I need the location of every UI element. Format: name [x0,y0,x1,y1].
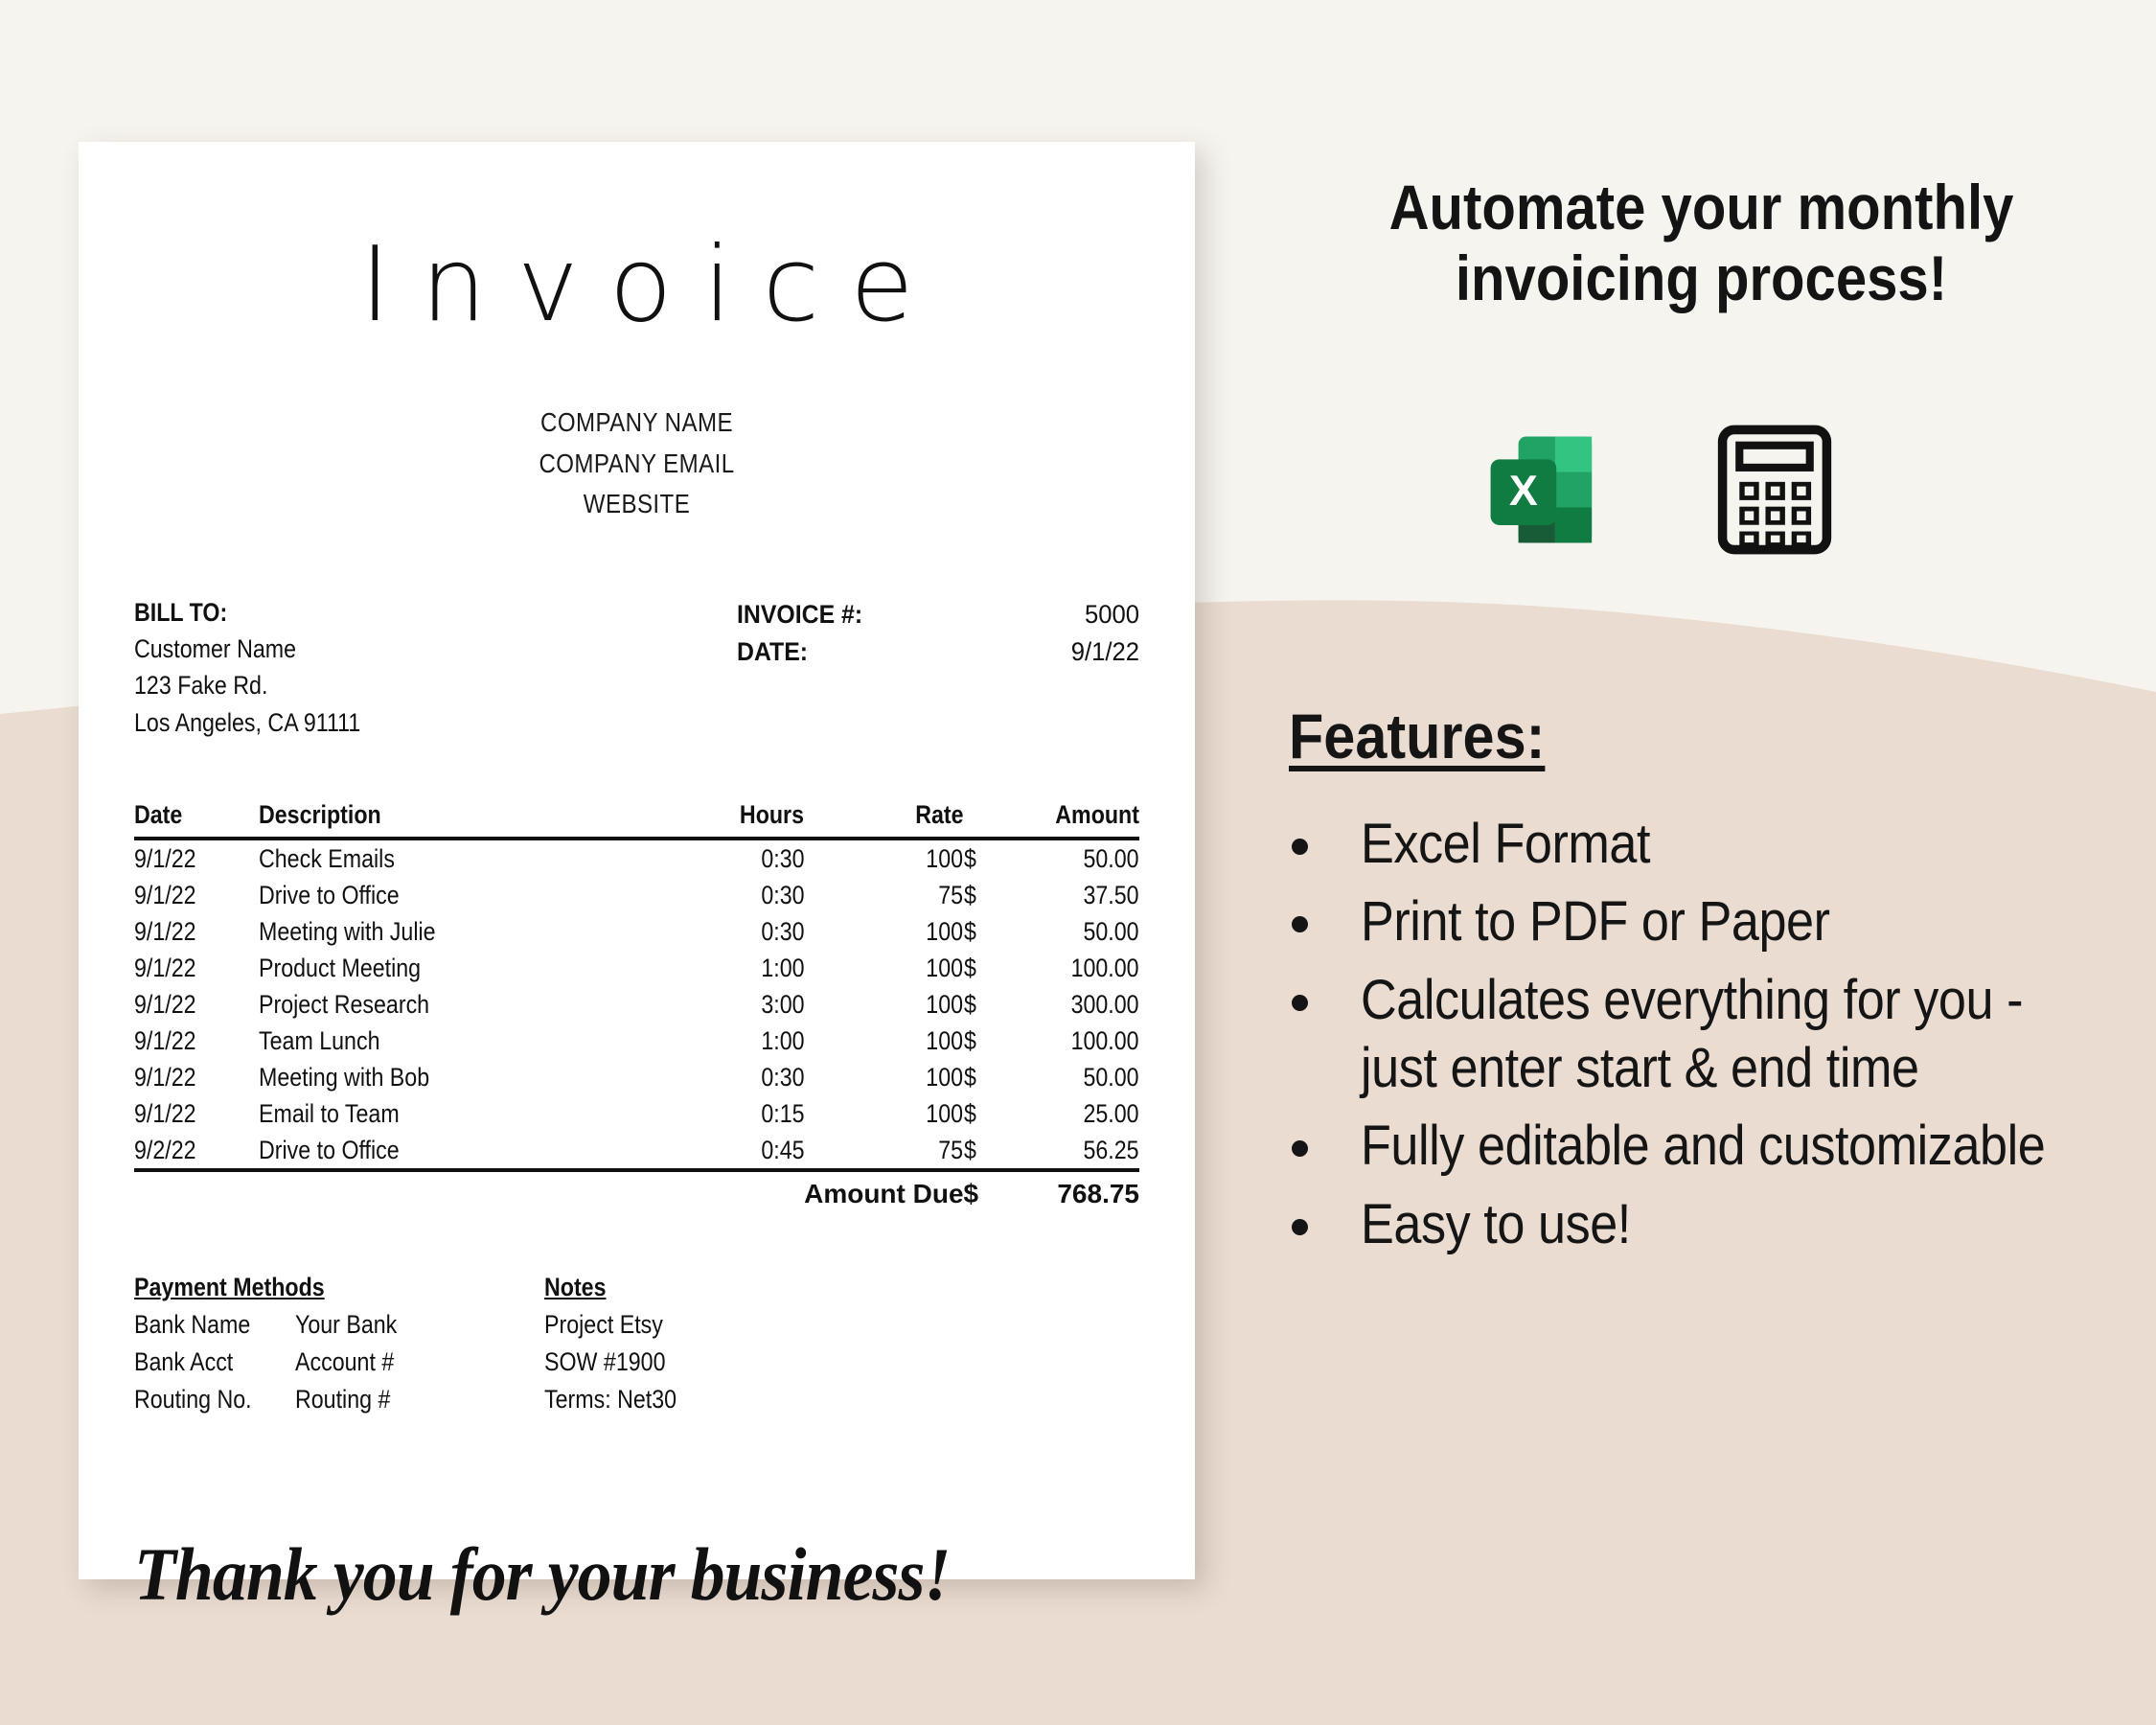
table-row: 9/1/22Team Lunch1:00100$100.00 [134,1023,1139,1059]
amount-due-row: Amount Due $ 768.75 [134,1172,1139,1213]
cell-hours: 0:30 [663,839,804,877]
svg-text:X: X [1509,466,1538,515]
bill-to-block: BILL TO: Customer Name 123 Fake Rd. Los … [134,594,671,741]
payment-row: Bank Acct Account # [134,1344,544,1381]
payment-notes-row: Payment Methods Bank Name Your Bank Bank… [134,1269,1139,1419]
feature-label: Fully editable and customizable [1361,1112,2045,1180]
features-heading: Features: [1289,700,1545,772]
cell-description: Meeting with Julie [259,913,663,950]
bullet-dot-icon [1292,916,1308,932]
column-header-amount: Amount [1006,800,1139,839]
feature-item: Easy to use! [1274,1190,2148,1258]
cell-currency: $ [964,950,1007,986]
column-header-currency [964,800,1007,839]
promo-panel: Automate your monthly invoicing process!… [1246,0,2156,1725]
payment-value: Account # [295,1344,394,1381]
invoice-number-row: INVOICE #: 5000 [737,596,1139,633]
cell-currency: $ [964,1132,1007,1170]
cell-date: 9/1/22 [134,1023,259,1059]
company-website: WEBSITE [204,484,1068,525]
column-header-description: Description [259,800,663,839]
company-email: COMPANY EMAIL [204,444,1068,485]
amount-due-label: Amount Due [804,1172,963,1213]
cell-amount: 50.00 [1006,913,1139,950]
calculator-icon [1714,425,1835,555]
payment-value: Routing # [295,1381,390,1418]
bullet-dot-icon [1292,1219,1308,1235]
feature-item: Excel Format [1274,810,2148,878]
amount-due-value: 768.75 [1006,1172,1139,1213]
note-line: Project Etsy [544,1306,890,1344]
cell-amount: 25.00 [1006,1095,1139,1132]
cell-description: Project Research [259,986,663,1023]
cell-amount: 50.00 [1006,839,1139,877]
table-row: 9/1/22Project Research3:00100$300.00 [134,986,1139,1023]
bill-to-label: BILL TO: [134,594,596,631]
cell-amount: 300.00 [1006,986,1139,1023]
payment-key: Bank Name [134,1306,272,1344]
cell-rate: 100 [804,950,963,986]
cell-currency: $ [964,1095,1007,1132]
payment-key: Bank Acct [134,1344,272,1381]
cell-amount: 56.25 [1006,1132,1139,1170]
note-line: SOW #1900 [544,1344,890,1381]
cell-rate: 100 [804,1023,963,1059]
cell-description: Email to Team [259,1095,663,1132]
table-body: 9/1/22Check Emails0:30100$50.009/1/22Dri… [134,839,1139,1170]
cell-description: Check Emails [259,839,663,877]
table-row: 9/1/22Meeting with Julie0:30100$50.00 [134,913,1139,950]
cell-currency: $ [964,877,1007,913]
cell-amount: 37.50 [1006,877,1139,913]
cell-date: 9/2/22 [134,1132,259,1170]
cell-date: 9/1/22 [134,913,259,950]
table-footer: Amount Due $ 768.75 [134,1170,1139,1213]
bill-to-line: Los Angeles, CA 91111 [134,704,596,741]
cell-description: Team Lunch [259,1023,663,1059]
cell-description: Meeting with Bob [259,1059,663,1095]
feature-label: Excel Format [1361,810,1650,878]
company-name: COMPANY NAME [204,402,1068,444]
cell-description: Product Meeting [259,950,663,986]
notes-block: Notes Project Etsy SOW #1900 Terms: Net3… [544,1269,947,1419]
cell-currency: $ [964,839,1007,877]
cell-hours: 0:30 [663,1059,804,1095]
cell-hours: 3:00 [663,986,804,1023]
cell-description: Drive to Office [259,877,663,913]
cell-description: Drive to Office [259,1132,663,1170]
cell-currency: $ [964,913,1007,950]
feature-label: Easy to use! [1361,1190,1631,1258]
table-row: 9/2/22Drive to Office0:4575$56.25 [134,1132,1139,1170]
invoice-title: Invoice [134,226,1139,345]
cell-currency: $ [964,986,1007,1023]
cell-currency: $ [964,1023,1007,1059]
cell-amount: 100.00 [1006,1023,1139,1059]
promo-icon-row: X [1480,425,1835,555]
cell-hours: 0:30 [663,877,804,913]
feature-item: Fully editable and customizable [1274,1112,2148,1180]
promo-headline-line2: invoicing process! [1307,243,2096,314]
cell-date: 9/1/22 [134,877,259,913]
table-row: 9/1/22Meeting with Bob0:30100$50.00 [134,1059,1139,1095]
cell-hours: 0:30 [663,913,804,950]
invoice-date-value: 9/1/22 [1071,633,1139,671]
cell-amount: 100.00 [1006,950,1139,986]
amount-due-currency: $ [964,1172,1007,1213]
feature-item: Calculates everything for you - just ent… [1274,966,2148,1103]
invoice-document: Invoice COMPANY NAME COMPANY EMAIL WEBSI… [79,142,1195,1579]
bullet-dot-icon [1292,995,1308,1011]
line-items-table: Date Description Hours Rate Amount 9/1/2… [134,800,1139,1213]
payment-methods-block: Payment Methods Bank Name Your Bank Bank… [134,1269,544,1419]
cell-rate: 75 [804,1132,963,1170]
note-line: Terms: Net30 [544,1381,890,1418]
invoice-number-label: INVOICE #: [737,596,862,633]
cell-amount: 50.00 [1006,1059,1139,1095]
column-header-date: Date [134,800,259,839]
cell-date: 9/1/22 [134,839,259,877]
cell-hours: 1:00 [663,1023,804,1059]
cell-rate: 100 [804,913,963,950]
feature-label: Print to PDF or Paper [1361,887,1830,955]
features-list: Excel FormatPrint to PDF or PaperCalcula… [1274,810,2148,1268]
invoice-date-label: DATE: [737,633,808,671]
feature-item: Print to PDF or Paper [1274,887,2148,955]
table-header: Date Description Hours Rate Amount [134,800,1139,839]
cell-hours: 0:45 [663,1132,804,1170]
invoice-meta-row: BILL TO: Customer Name 123 Fake Rd. Los … [134,594,1139,741]
column-header-rate: Rate [804,800,963,839]
bill-to-line: 123 Fake Rd. [134,667,596,703]
bill-to-line: Customer Name [134,631,596,667]
cell-rate: 100 [804,1095,963,1132]
notes-heading: Notes [544,1269,607,1306]
cell-hours: 0:15 [663,1095,804,1132]
table-row: 9/1/22Product Meeting1:00100$100.00 [134,950,1139,986]
cell-rate: 100 [804,986,963,1023]
company-info-block: COMPANY NAME COMPANY EMAIL WEBSITE [134,402,1139,525]
cell-rate: 75 [804,877,963,913]
feature-label: Calculates everything for you - just ent… [1361,966,2070,1103]
cell-currency: $ [964,1059,1007,1095]
invoice-date-row: DATE: 9/1/22 [737,633,1139,671]
payment-row: Routing No. Routing # [134,1381,544,1418]
payment-methods-heading: Payment Methods [134,1269,325,1306]
cell-rate: 100 [804,839,963,877]
bullet-dot-icon [1292,839,1308,855]
promo-headline: Automate your monthly invoicing process! [1307,172,2096,314]
cell-rate: 100 [804,1059,963,1095]
table-header-row: Date Description Hours Rate Amount [134,800,1139,839]
payment-row: Bank Name Your Bank [134,1306,544,1344]
payment-value: Your Bank [295,1306,397,1344]
excel-icon: X [1480,426,1607,553]
cell-date: 9/1/22 [134,986,259,1023]
table-row: 9/1/22Email to Team0:15100$25.00 [134,1095,1139,1132]
table-row: 9/1/22Drive to Office0:3075$37.50 [134,877,1139,913]
column-header-hours: Hours [663,800,804,839]
payment-key: Routing No. [134,1381,272,1418]
cell-date: 9/1/22 [134,950,259,986]
cell-hours: 1:00 [663,950,804,986]
cell-date: 9/1/22 [134,1095,259,1132]
cell-date: 9/1/22 [134,1059,259,1095]
bullet-dot-icon [1292,1140,1308,1157]
invoice-number-value: 5000 [1085,596,1139,633]
invoice-number-date-block: INVOICE #: 5000 DATE: 9/1/22 [737,594,1139,741]
table-row: 9/1/22Check Emails0:30100$50.00 [134,839,1139,877]
thank-you-message: Thank you for your business! [134,1531,1059,1618]
promo-headline-line1: Automate your monthly [1307,172,2096,243]
